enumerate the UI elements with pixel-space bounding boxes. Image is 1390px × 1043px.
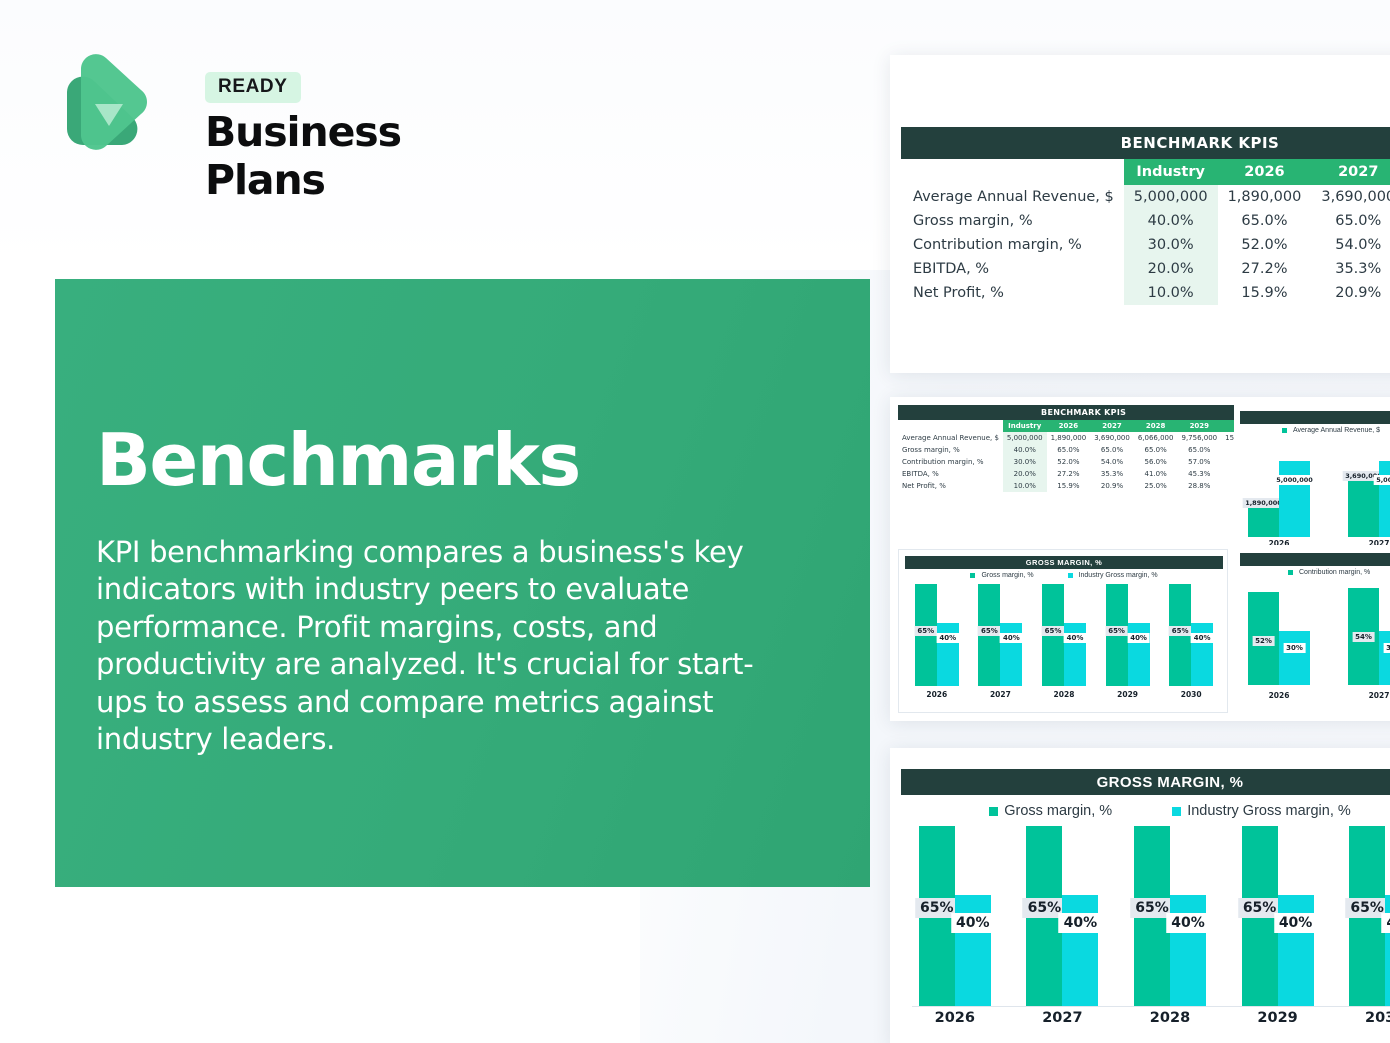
bar-value-label: 40%	[951, 913, 995, 933]
bar-value-label: 40%	[1274, 913, 1318, 933]
benchmark-kpis-table-wrap: BENCHMARK KPISIndustry202620272028Averag…	[901, 127, 1390, 305]
bar-value-label: 40%	[1166, 913, 1210, 933]
cell-2026: 52.0%	[1047, 456, 1091, 468]
cell-industry: 5,000,000	[1003, 432, 1047, 444]
table-row: Gross margin, %40.0%65.0%65.0%65.0%65.0%…	[898, 444, 1269, 456]
bar-industry[interactable]: 40%	[1385, 895, 1390, 1006]
bar-series[interactable]: 3,690,000	[1348, 481, 1379, 537]
bar-industry[interactable]: 5,000,000	[1379, 461, 1390, 537]
chart-x-axis: 202620272028	[1248, 691, 1390, 700]
bar-industry[interactable]: 40%	[1191, 623, 1213, 686]
cell-industry: 30.0%	[1003, 456, 1047, 468]
column-header-blank	[901, 159, 1124, 185]
legend-item-contribution-margin: Contribution margin, %	[1288, 569, 1370, 576]
row-label: Gross margin, %	[898, 444, 1003, 456]
table-header-row: Industry202620272028	[901, 159, 1390, 185]
legend-item-industry-gross-margin: Industry Gross margin, %	[1068, 572, 1158, 579]
cell-2026: 52.0%	[1218, 233, 1312, 257]
legend-swatch-industry-gross-margin	[1172, 807, 1181, 816]
row-label: Net Profit, %	[901, 281, 1124, 305]
table-row: Average Annual Revenue, $5,000,0001,890,…	[901, 185, 1390, 209]
column-header-industry[interactable]: Industry	[1003, 420, 1047, 432]
bar-industry[interactable]: 30%	[1379, 631, 1390, 685]
hero-description: KPI benchmarking compares a business's k…	[96, 534, 771, 758]
benchmark-kpis-card[interactable]: BENCHMARK KPISIndustry202620272028Averag…	[890, 55, 1390, 373]
mini-contribution-margin-chart[interactable]: CONTRIBUTION MARGIN, % Contribution marg…	[1234, 549, 1390, 713]
column-header-2028[interactable]: 2028	[1134, 420, 1178, 432]
column-header-2026[interactable]: 2026	[1047, 420, 1091, 432]
bar-group: 3,690,0005,000,000	[1348, 445, 1390, 537]
hero-panel: Benchmarks KPI benchmarking compares a b…	[55, 279, 870, 887]
legend-label-gross-margin: Gross margin, %	[1004, 803, 1112, 819]
bar-value-label: 40%	[1127, 633, 1150, 643]
legend-label-contribution-margin: Contribution margin, %	[1299, 569, 1370, 576]
bar-series[interactable]: 65%	[1026, 826, 1062, 1006]
bar-value-label: 40%	[1059, 913, 1103, 933]
cell-2026: 15.9%	[1218, 281, 1312, 305]
legend-item-gross-margin: Gross margin, %	[989, 803, 1112, 819]
brand-name: Business Plans	[205, 108, 435, 204]
column-header-2027[interactable]: 2027	[1311, 159, 1390, 185]
bar-value-label: 65%	[1042, 626, 1065, 636]
table-row: EBITDA, %20.0%27.2%35.3%41.0%45.3%49.0%	[898, 468, 1269, 480]
chart-plot-area: 52%30%54%30%56%30%	[1240, 581, 1390, 685]
cell-2026: 27.2%	[1047, 468, 1091, 480]
bar-value-label: 30%	[1383, 643, 1390, 653]
x-axis-label: 2028	[1042, 690, 1086, 699]
legend-swatch-gross-margin	[989, 807, 998, 816]
cell-2027: 35.3%	[1090, 468, 1134, 480]
bar-series[interactable]: 65%	[978, 584, 1000, 686]
bar-group: 65%40%	[915, 584, 959, 686]
bar-group: 54%30%	[1348, 581, 1390, 685]
bar-group: 65%40%	[1042, 584, 1086, 686]
cell-2029: 9,756,000	[1177, 432, 1221, 444]
cell-2029: 65.0%	[1177, 444, 1221, 456]
cell-industry: 10.0%	[1003, 480, 1047, 492]
cell-2028: 41.0%	[1134, 468, 1178, 480]
legend-item-industry-gross-margin: Industry Gross margin, %	[1172, 803, 1351, 819]
row-label: Contribution margin, %	[898, 456, 1003, 468]
chart-legend: Contribution margin, %	[1240, 569, 1390, 576]
bar-industry[interactable]: 40%	[1278, 895, 1314, 1006]
table-title-row: BENCHMARK KPIS	[898, 405, 1269, 420]
bar-value-label: 65%	[914, 626, 937, 636]
x-axis-label: 2026	[919, 1010, 991, 1026]
table-title: BENCHMARK KPIS	[901, 127, 1390, 159]
contribution-margin-chart: CONTRIBUTION MARGIN, % Contribution marg…	[1234, 549, 1390, 713]
row-label: EBITDA, %	[901, 257, 1124, 281]
chart-title: AVERAGE ANNUAL REVENUE, $	[1240, 411, 1390, 424]
cell-2027: 3,690,000	[1311, 185, 1390, 209]
bar-value-label: 40%	[1064, 633, 1087, 643]
bar-series[interactable]: 52%	[1248, 592, 1279, 685]
bar-group: 65%40%	[978, 584, 1022, 686]
x-axis-label: 2030	[1169, 690, 1213, 699]
page-title: Benchmarks	[96, 424, 580, 496]
cell-2026: 15.9%	[1047, 480, 1091, 492]
bar-industry[interactable]: 40%	[1062, 895, 1098, 1006]
x-axis-label: 2029	[1106, 690, 1150, 699]
column-header-2027[interactable]: 2027	[1090, 420, 1134, 432]
gross-margin-card[interactable]: GROSS MARGIN, % Gross margin, % Industry…	[890, 748, 1390, 1043]
bar-value-label: 65%	[1169, 626, 1192, 636]
cell-industry: 20.0%	[1003, 468, 1047, 480]
row-label: Gross margin, %	[901, 209, 1124, 233]
bar-value-label: 30%	[1283, 643, 1306, 653]
table-row: Gross margin, %40.0%65.0%65.0%65.0%	[901, 209, 1390, 233]
cell-2027: 54.0%	[1090, 456, 1134, 468]
legend-swatch-contribution-margin	[1288, 570, 1293, 575]
bar-series[interactable]: 65%	[915, 584, 937, 686]
dashboard-overview-card[interactable]: BENCHMARK KPISIndustry202620272028202920…	[890, 397, 1390, 721]
legend-label-gross-margin: Gross margin, %	[981, 572, 1033, 579]
x-axis-label: 2027	[978, 690, 1022, 699]
bar-series[interactable]: 65%	[1042, 584, 1064, 686]
cell-industry: 40.0%	[1003, 444, 1047, 456]
cell-2026: 27.2%	[1218, 257, 1312, 281]
gross-margin-chart-small: GROSS MARGIN, % Gross margin, % Industry…	[899, 550, 1227, 712]
mini-average-annual-revenue-chart[interactable]: AVERAGE ANNUAL REVENUE, $ Average Annual…	[1234, 405, 1390, 545]
x-axis-label: 2026	[915, 690, 959, 699]
bar-group: 65%40%	[919, 826, 991, 1006]
cell-2028: 65.0%	[1134, 444, 1178, 456]
cell-industry: 30.0%	[1124, 233, 1218, 257]
ready-badge: READY	[205, 72, 301, 103]
bar-industry[interactable]: 5,000,000	[1279, 461, 1310, 537]
row-label: EBITDA, %	[898, 468, 1003, 480]
brand-logo[interactable]: READY Business Plans	[55, 48, 435, 160]
bar-industry[interactable]: 40%	[1000, 623, 1022, 686]
bar-group: 65%40%	[1169, 584, 1213, 686]
bar-group: 52%30%	[1248, 581, 1310, 685]
cell-2027: 3,690,000	[1090, 432, 1134, 444]
x-axis-label: 2027	[1348, 539, 1390, 545]
cell-2027: 35.3%	[1311, 257, 1390, 281]
row-label: Contribution margin, %	[901, 233, 1124, 257]
row-label: Average Annual Revenue, $	[898, 432, 1003, 444]
column-header-2029[interactable]: 2029	[1177, 420, 1221, 432]
bar-value-label: 40%	[1000, 633, 1023, 643]
slide-canvas: READY Business Plans Benchmarks KPI benc…	[0, 0, 1390, 1043]
bar-series[interactable]: 65%	[1106, 584, 1128, 686]
cell-2027: 54.0%	[1311, 233, 1390, 257]
cell-industry: 10.0%	[1124, 281, 1218, 305]
bar-group: 65%40%	[1349, 826, 1390, 1006]
x-axis-label: 2029	[1242, 1010, 1314, 1026]
x-axis-label: 2026	[1248, 691, 1310, 700]
column-header-industry[interactable]: Industry	[1124, 159, 1218, 185]
chart-legend: Average Annual Revenue, $ Industry Avera…	[1240, 427, 1390, 434]
cell-2027: 65.0%	[1090, 444, 1134, 456]
table-row: Net Profit, %10.0%15.9%20.9%25.0%	[901, 281, 1390, 305]
bar-industry[interactable]: 40%	[937, 623, 959, 686]
bar-group: 65%40%	[1134, 826, 1206, 1006]
chart-plot-area: 65%40%65%40%65%40%65%40%65%40%	[901, 826, 1390, 1006]
cell-industry: 5,000,000	[1124, 185, 1218, 209]
legend-item-gross-margin: Gross margin, %	[970, 572, 1033, 579]
x-axis-label: 2027	[1026, 1010, 1098, 1026]
bar-industry[interactable]: 40%	[1064, 623, 1086, 686]
cell-2028: 25.0%	[1134, 480, 1178, 492]
x-axis-label: 2030	[1349, 1010, 1390, 1026]
cell-2026: 1,890,000	[1218, 185, 1312, 209]
cell-2029: 45.3%	[1177, 468, 1221, 480]
bar-value-label: 40%	[1191, 633, 1214, 643]
bar-value-label: 40%	[936, 633, 959, 643]
legend-swatch-revenue	[1282, 428, 1287, 433]
benchmark-kpis-table: BENCHMARK KPISIndustry202620272028Averag…	[901, 127, 1390, 305]
mini-gross-margin-chart[interactable]: GROSS MARGIN, % Gross margin, % Industry…	[898, 549, 1228, 713]
cell-2029: 28.8%	[1177, 480, 1221, 492]
x-axis-label: 2028	[1134, 1010, 1206, 1026]
bar-series[interactable]: 65%	[1169, 584, 1191, 686]
bar-value-label: 65%	[978, 626, 1001, 636]
cell-2027: 65.0%	[1311, 209, 1390, 233]
bar-group: 1,890,0005,000,000	[1248, 445, 1310, 537]
cell-industry: 40.0%	[1124, 209, 1218, 233]
legend-swatch-gross-margin	[970, 573, 975, 578]
table-row: Net Profit, %10.0%15.9%20.9%25.0%28.8%32…	[898, 480, 1269, 492]
bar-value-label: 52%	[1252, 636, 1275, 646]
chart-legend: Gross margin, % Industry Gross margin, %	[901, 803, 1390, 819]
chart-plot-area: 1,890,0005,000,0003,690,0005,000,0006,06…	[1240, 445, 1390, 537]
legend-swatch-industry-gross-margin	[1068, 573, 1073, 578]
table-row: Contribution margin, %30.0%52.0%54.0%56.…	[898, 456, 1269, 468]
table-title-row: BENCHMARK KPIS	[901, 127, 1390, 159]
cell-industry: 20.0%	[1124, 257, 1218, 281]
cell-2026: 65.0%	[1047, 444, 1091, 456]
bar-series[interactable]: 65%	[1242, 826, 1278, 1006]
bar-series[interactable]: 65%	[1349, 826, 1385, 1006]
bar-value-label: 54%	[1352, 632, 1375, 642]
table-title: BENCHMARK KPIS	[898, 405, 1269, 420]
bar-industry[interactable]: 40%	[955, 895, 991, 1006]
mini-benchmark-kpis-table-wrap: BENCHMARK KPISIndustry202620272028202920…	[898, 405, 1228, 545]
cell-2027: 20.9%	[1311, 281, 1390, 305]
column-header-blank	[898, 420, 1003, 432]
average-annual-revenue-chart: AVERAGE ANNUAL REVENUE, $ Average Annual…	[1234, 405, 1390, 545]
legend-label-revenue: Average Annual Revenue, $	[1293, 427, 1380, 434]
table-row: Average Annual Revenue, $5,000,0001,890,…	[898, 432, 1269, 444]
x-axis-label: 2026	[1248, 539, 1310, 545]
bar-industry[interactable]: 30%	[1279, 631, 1310, 685]
x-axis-label: 2027	[1348, 691, 1390, 700]
bar-value-label: 65%	[1105, 626, 1128, 636]
chart-title: CONTRIBUTION MARGIN, %	[1240, 553, 1390, 566]
row-label: Average Annual Revenue, $	[901, 185, 1124, 209]
chart-title: GROSS MARGIN, %	[905, 556, 1223, 569]
chart-title: GROSS MARGIN, %	[901, 769, 1390, 795]
bar-group: 65%40%	[1242, 826, 1314, 1006]
chart-plot-area: 65%40%65%40%65%40%65%40%65%40%	[905, 584, 1223, 686]
row-label: Net Profit, %	[898, 480, 1003, 492]
cell-2027: 20.9%	[1090, 480, 1134, 492]
table-row: Contribution margin, %30.0%52.0%54.0%56.…	[901, 233, 1390, 257]
play-triangle-logo-icon	[55, 52, 151, 152]
legend-label-industry-gross-margin: Industry Gross margin, %	[1187, 803, 1351, 819]
table-row: EBITDA, %20.0%27.2%35.3%41.0%	[901, 257, 1390, 281]
chart-x-axis: 20262027202820292030	[905, 690, 1223, 699]
bar-value-label: 5,000,000	[1373, 475, 1390, 485]
cell-2029: 57.0%	[1177, 456, 1221, 468]
chart-axis-line	[912, 1006, 1390, 1007]
bar-industry[interactable]: 40%	[1128, 623, 1150, 686]
legend-label-industry-gross-margin: Industry Gross margin, %	[1079, 572, 1158, 579]
cell-2026: 65.0%	[1218, 209, 1312, 233]
cell-2028: 6,066,000	[1134, 432, 1178, 444]
bar-value-label: 40%	[1381, 913, 1390, 933]
mini-benchmark-kpis-table: BENCHMARK KPISIndustry202620272028202920…	[898, 405, 1269, 492]
chart-legend: Gross margin, % Industry Gross margin, %	[905, 572, 1223, 579]
legend-item-revenue: Average Annual Revenue, $	[1282, 427, 1380, 434]
cell-2026: 1,890,000	[1047, 432, 1091, 444]
chart-x-axis: 20262027202820292030	[901, 1010, 1390, 1026]
bar-group: 65%40%	[1106, 584, 1150, 686]
bar-industry[interactable]: 40%	[1170, 895, 1206, 1006]
bar-series[interactable]: 65%	[1134, 826, 1170, 1006]
bar-value-label: 5,000,000	[1273, 475, 1316, 485]
chart-x-axis: 202620272028	[1248, 539, 1390, 545]
column-header-2026[interactable]: 2026	[1218, 159, 1312, 185]
bar-group: 65%40%	[1026, 826, 1098, 1006]
bar-series[interactable]: 1,890,000	[1248, 508, 1279, 537]
table-header-row: Industry20262027202820292030	[898, 420, 1269, 432]
bar-series[interactable]: 54%	[1348, 588, 1379, 685]
gross-margin-chart-large: GROSS MARGIN, % Gross margin, % Industry…	[890, 748, 1390, 1043]
bar-series[interactable]: 65%	[919, 826, 955, 1006]
cell-2028: 56.0%	[1134, 456, 1178, 468]
